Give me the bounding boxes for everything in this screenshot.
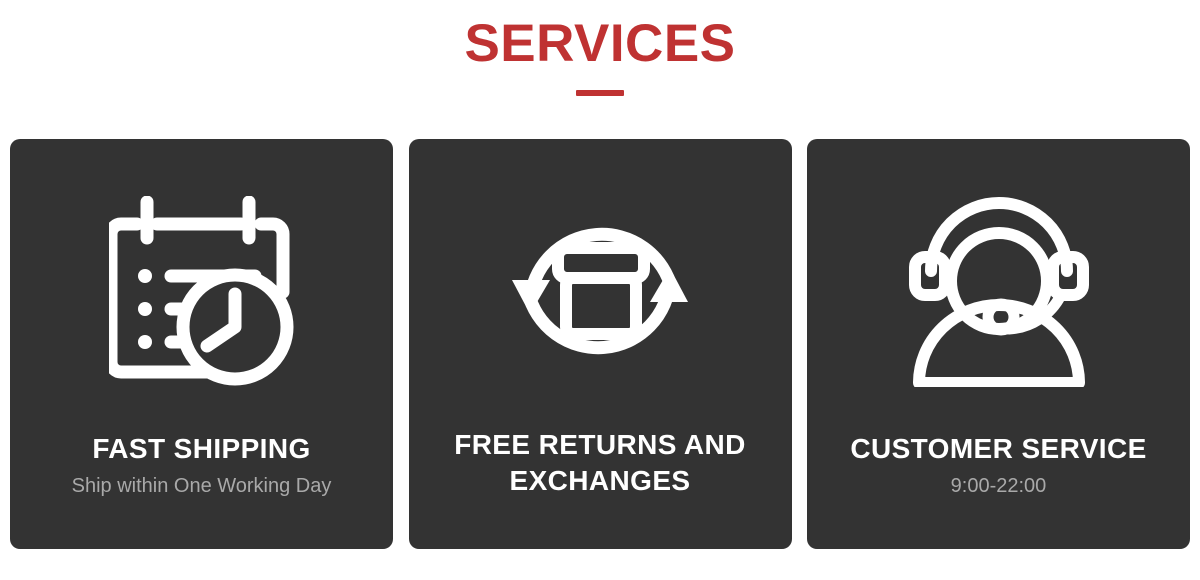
card-title: FAST SHIPPING: [28, 431, 375, 467]
service-cards-row: FAST SHIPPING Ship within One Working Da…: [10, 139, 1190, 549]
service-card-customer-service[interactable]: CUSTOMER SERVICE 9:00-22:00: [807, 139, 1190, 549]
card-title: CUSTOMER SERVICE: [825, 431, 1172, 467]
card-text-block: FAST SHIPPING Ship within One Working Da…: [28, 431, 375, 527]
headset-support-agent-icon: [899, 191, 1099, 391]
service-card-fast-shipping[interactable]: FAST SHIPPING Ship within One Working Da…: [10, 139, 393, 549]
services-section: SERVICES: [0, 0, 1200, 580]
section-heading: SERVICES: [0, 0, 1200, 96]
return-exchange-box-icon: [500, 191, 700, 391]
title-underline-accent: [576, 90, 624, 96]
card-subtitle: 9:00-22:00: [825, 473, 1172, 499]
page-title: SERVICES: [0, 0, 1200, 72]
card-text-block: FREE RETURNS AND EXCHANGES: [427, 427, 774, 527]
clipboard-clock-icon: [102, 191, 302, 391]
card-text-block: CUSTOMER SERVICE 9:00-22:00: [825, 431, 1172, 527]
card-subtitle: Ship within One Working Day: [28, 473, 375, 499]
service-card-free-returns[interactable]: FREE RETURNS AND EXCHANGES: [409, 139, 792, 549]
card-title: FREE RETURNS AND EXCHANGES: [427, 427, 774, 499]
